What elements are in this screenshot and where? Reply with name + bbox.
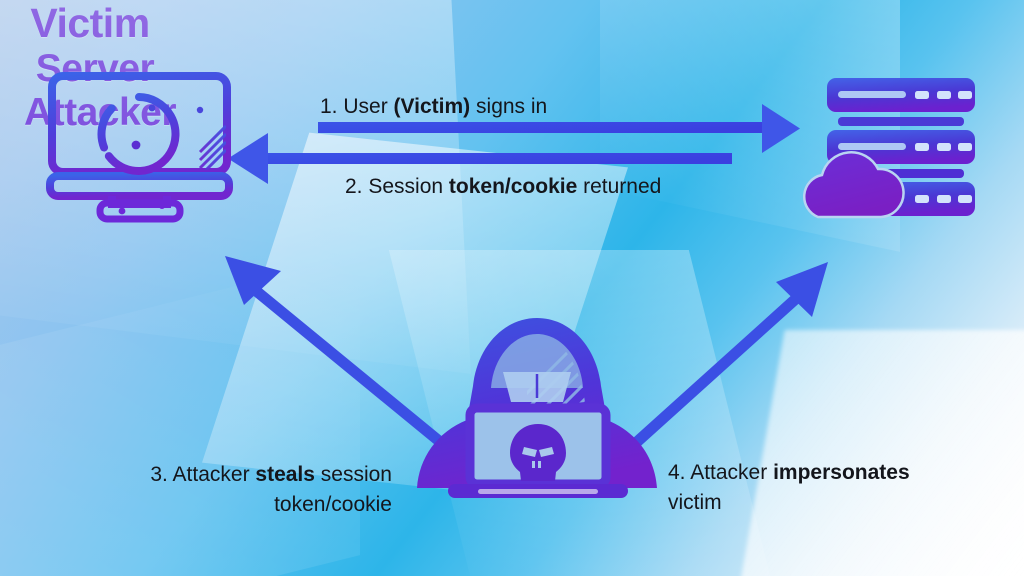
- step-1-text-post: signs in: [470, 95, 547, 118]
- step-4-number: 4.: [668, 461, 686, 484]
- step-4-caption: 4. Attacker impersonates victim: [668, 458, 998, 518]
- skull-icon: [510, 424, 566, 481]
- step-3-caption: 3. Attacker steals session token/cookie: [80, 460, 392, 520]
- step-3-text-bold: steals: [255, 463, 315, 486]
- diagram-canvas: Victim Server Attacker 1. User (Victim) …: [0, 0, 1024, 576]
- step-2-number: 2.: [345, 175, 363, 198]
- step-3-text-pre: Attacker: [173, 463, 256, 486]
- step-3-text-line2: token/cookie: [80, 490, 392, 520]
- step-2-caption: 2. Session token/cookie returned: [345, 173, 661, 201]
- background-facet-4: [0, 255, 360, 576]
- background-facet-3: [389, 250, 771, 576]
- step-3-number: 3.: [150, 463, 168, 486]
- arrow-attacker-to-server: [628, 262, 828, 450]
- step-3-text-post: session: [315, 463, 392, 486]
- step-4-text-pre: Attacker: [690, 461, 773, 484]
- step-2-text-post: returned: [577, 175, 661, 198]
- node-label-server: Server: [0, 47, 190, 91]
- step-4-text-line2: victim: [668, 488, 998, 518]
- step-1-text-bold: (Victim): [394, 95, 471, 118]
- background-facet-5: [600, 0, 900, 252]
- server-cloud-icon: [804, 78, 975, 217]
- step-1-text-pre: User: [343, 95, 393, 118]
- step-4-text-bold: impersonates: [773, 461, 910, 484]
- arrow-attacker-to-victim: [225, 256, 450, 450]
- node-label-attacker: Attacker: [0, 91, 200, 135]
- step-2-text-pre: Session: [368, 175, 449, 198]
- step-1-number: 1.: [320, 95, 338, 118]
- background-facet-6: [735, 330, 1024, 576]
- hacker-hoodie-laptop-skull-icon: [417, 318, 657, 498]
- step-2-text-bold: token/cookie: [449, 175, 577, 198]
- node-label-victim: Victim: [0, 0, 180, 47]
- step-1-caption: 1. User (Victim) signs in: [320, 93, 547, 121]
